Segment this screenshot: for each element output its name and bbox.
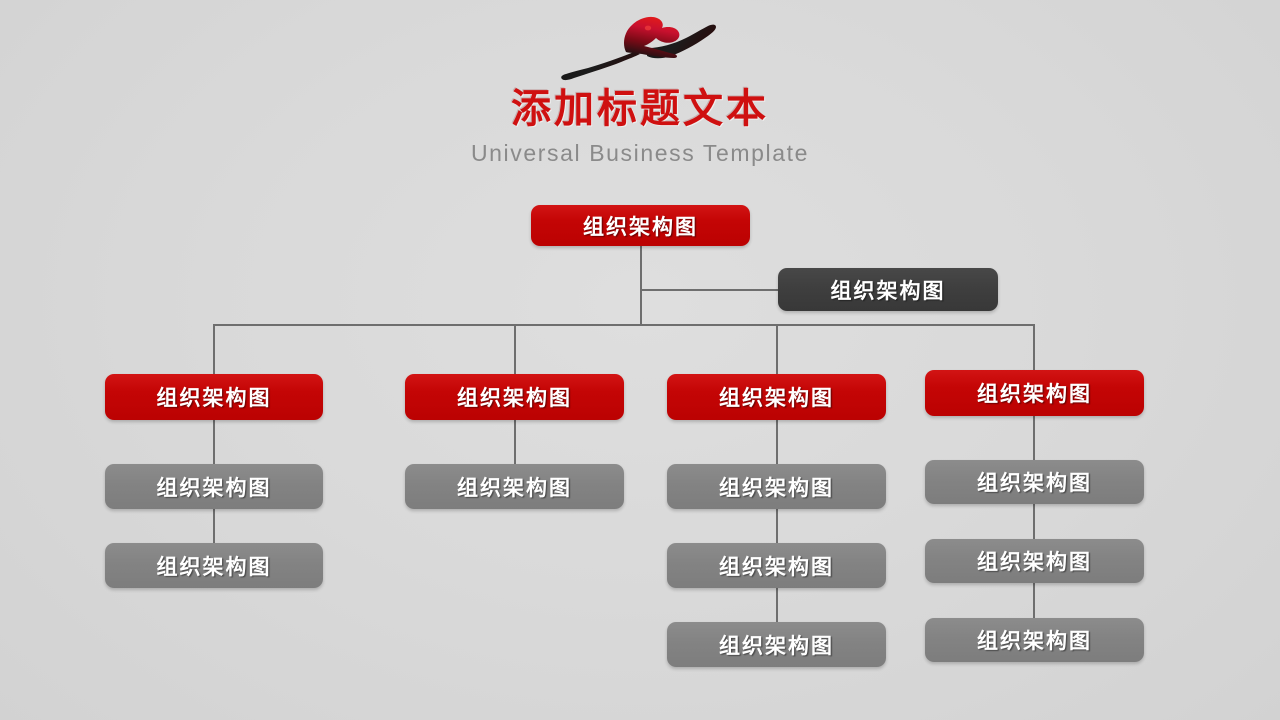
org-node-col3-child-2[interactable]: 组织架构图: [667, 543, 886, 588]
connector-spine-col4-b: [1033, 504, 1035, 539]
connector-spine-col4: [1033, 416, 1035, 462]
connector-staff-branch: [640, 289, 779, 291]
org-node-root[interactable]: 组织架构图: [531, 205, 750, 246]
connector-bus: [213, 324, 1034, 326]
connector-spine-col3: [776, 420, 778, 468]
connector-spine-col4-c: [1033, 583, 1035, 618]
org-node-col4-child-3[interactable]: 组织架构图: [925, 618, 1144, 662]
org-node-col4-head[interactable]: 组织架构图: [925, 370, 1144, 416]
connector-drop-col4: [1033, 324, 1035, 370]
connector-root-trunk: [640, 245, 642, 325]
org-node-col2-head[interactable]: 组织架构图: [405, 374, 624, 420]
org-node-col3-child-1[interactable]: 组织架构图: [667, 464, 886, 509]
org-node-col1-head[interactable]: 组织架构图: [105, 374, 323, 420]
leaping-person-silhouette-icon: [556, 8, 726, 84]
connector-spine-col1: [213, 420, 215, 468]
connector-drop-col2: [514, 324, 516, 374]
org-node-col4-child-1[interactable]: 组织架构图: [925, 460, 1144, 504]
slide-canvas: 添加标题文本 Universal Business Template 组织架构图…: [0, 0, 1280, 720]
org-node-col2-child-1[interactable]: 组织架构图: [405, 464, 624, 509]
org-node-col1-child-2[interactable]: 组织架构图: [105, 543, 323, 588]
page-subtitle: Universal Business Template: [0, 138, 1280, 168]
org-node-col3-child-3[interactable]: 组织架构图: [667, 622, 886, 667]
org-node-staff[interactable]: 组织架构图: [778, 268, 998, 311]
org-node-col4-child-2[interactable]: 组织架构图: [925, 539, 1144, 583]
page-title: 添加标题文本: [0, 84, 1280, 134]
org-node-col1-child-1[interactable]: 组织架构图: [105, 464, 323, 509]
connector-drop-col3: [776, 324, 778, 374]
connector-spine-col2: [514, 420, 516, 468]
connector-drop-col1: [213, 324, 215, 374]
org-node-col3-head[interactable]: 组织架构图: [667, 374, 886, 420]
